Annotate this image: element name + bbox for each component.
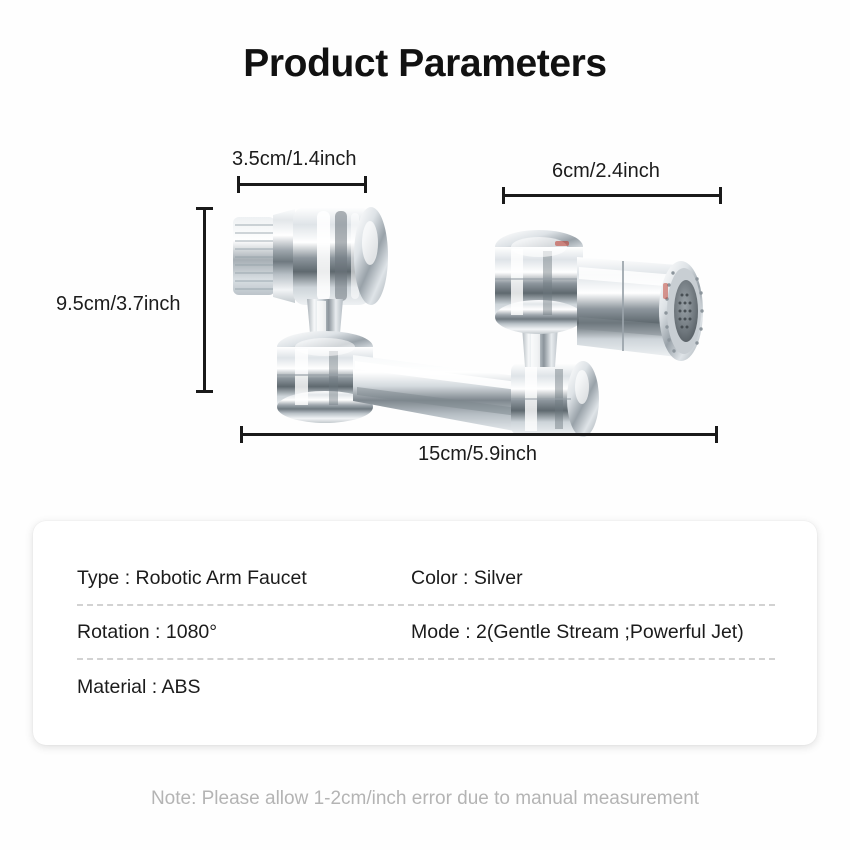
- dimension-label-overall-height: 9.5cm/3.7inch: [56, 293, 181, 316]
- dimension-bar-connector-width: [237, 183, 367, 186]
- spec-material: Material : ABS: [77, 676, 411, 699]
- spec-mode: Mode : 2(Gentle Stream ;Powerful Jet): [411, 621, 817, 644]
- dimension-bar-overall-height: [203, 207, 206, 393]
- dimension-bar-nozzle-length: [502, 194, 722, 197]
- spec-type: Type : Robotic Arm Faucet: [77, 567, 411, 590]
- faucet-spray-nozzle-head: [577, 257, 704, 361]
- product-dimension-diagram: 3.5cm/1.4inch 6cm/2.4inch 9.5cm/3.7inch …: [0, 110, 850, 490]
- page-title: Product Parameters: [0, 42, 850, 86]
- dimension-label-connector-width: 3.5cm/1.4inch: [232, 148, 357, 171]
- dimension-label-overall-length: 15cm/5.9inch: [418, 443, 537, 466]
- faucet-right-swivel-joint: [511, 361, 599, 437]
- faucet-nozzle-pivot: [495, 230, 583, 334]
- table-row: Rotation : 1080° Mode : 2(Gentle Stream …: [33, 606, 817, 661]
- dimension-label-nozzle-length: 6cm/2.4inch: [552, 160, 660, 183]
- spec-rotation: Rotation : 1080°: [77, 621, 411, 644]
- faucet-inlet-connector: [233, 207, 388, 305]
- page-root: Product Parameters: [0, 0, 850, 850]
- table-row: Material : ABS: [33, 660, 817, 715]
- measurement-disclaimer-note: Note: Please allow 1-2cm/inch error due …: [0, 788, 850, 810]
- faucet-extension-arm: [353, 355, 525, 433]
- spec-color: Color : Silver: [411, 567, 817, 590]
- specification-card: Type : Robotic Arm Faucet Color : Silver…: [33, 521, 817, 745]
- dimension-bar-overall-length: [240, 433, 718, 436]
- table-row: Type : Robotic Arm Faucet Color : Silver: [33, 551, 817, 606]
